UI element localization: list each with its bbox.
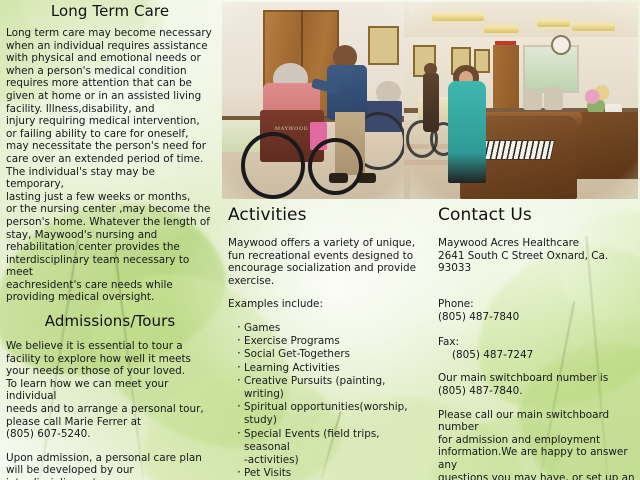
facility-address: 2641 South C Street Oxnard, Ca. 93033 bbox=[438, 250, 636, 275]
brochure-page: MAYWOOD bbox=[0, 0, 640, 480]
call-paragraph: Please call our main switchboard number … bbox=[438, 409, 636, 480]
activity-item: Pet Visits bbox=[237, 467, 428, 480]
facility-name: Maywood Acres Healthcare bbox=[438, 237, 636, 250]
long-term-care-body: Long term care may become necessary when… bbox=[6, 27, 214, 304]
activity-item: Games bbox=[237, 322, 428, 335]
fax-value: (805) 487-7247 bbox=[452, 349, 533, 361]
column-contact: Contact Us Maywood Acres Healthcare 2641… bbox=[438, 205, 636, 480]
activities-heading: Activities bbox=[228, 205, 428, 237]
activity-item: Social Get-Togethers bbox=[237, 348, 428, 361]
activity-item: Creative Pursuits (painting, writing) bbox=[237, 375, 428, 401]
activity-item: Exercise Programs bbox=[237, 335, 428, 348]
fax-label: Fax: bbox=[438, 336, 459, 348]
section-admissions-tours: Admissions/Tours We believe it is essent… bbox=[6, 304, 214, 480]
activities-list: GamesExercise ProgramsSocial Get-Togethe… bbox=[228, 322, 428, 480]
fax-line: Fax: (805) 487-7247 bbox=[438, 324, 636, 362]
photo-activity-room-piano bbox=[404, 2, 638, 199]
phone-label: Phone: bbox=[438, 298, 474, 310]
admissions-tours-heading: Admissions/Tours bbox=[6, 304, 214, 340]
phone-line: Phone: (805) 487-7840 bbox=[438, 286, 636, 324]
long-term-care-heading: Long Term Care bbox=[6, 0, 214, 27]
contact-us-heading: Contact Us bbox=[438, 205, 636, 237]
activity-item: Special Events (field trips, seasonal -a… bbox=[237, 428, 428, 468]
column-activities: Activities Maywood offers a variety of u… bbox=[228, 205, 428, 480]
activities-intro: Maywood offers a variety of unique, fun … bbox=[228, 237, 428, 287]
section-long-term-care: Long Term Care Long term care may become… bbox=[6, 0, 214, 304]
phone-value: (805) 487-7840 bbox=[438, 311, 519, 323]
activity-item: Learning Activities bbox=[237, 362, 428, 375]
activities-examples-label: Examples include: bbox=[228, 298, 428, 311]
column-left: Long Term Care Long term care may become… bbox=[6, 0, 214, 480]
photo-caregiver-resident: MAYWOOD bbox=[222, 2, 410, 199]
admissions-tours-body-2: Upon admission, a personal care plan wil… bbox=[6, 452, 214, 480]
switchboard-note: Our main switchboard number is (805) 487… bbox=[438, 372, 636, 397]
admissions-tours-body-1: We believe it is essential to tour a fac… bbox=[6, 340, 214, 441]
activity-item: Spiritual opportunities(worship, study) bbox=[237, 401, 428, 427]
